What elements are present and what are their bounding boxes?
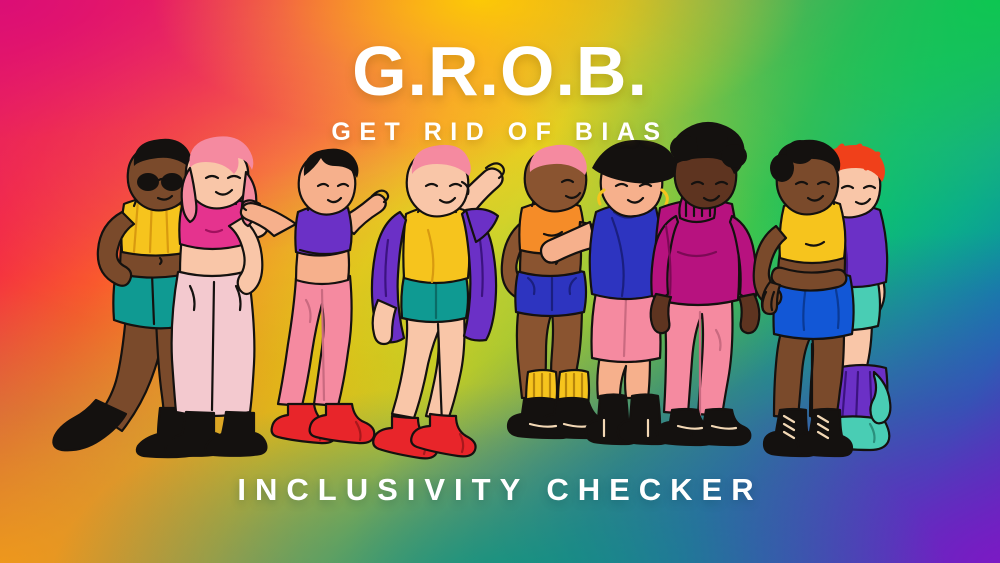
poster-canvas: G.R.O.B. GET RID OF BIAS INCLUSIVITY CHE… bbox=[0, 0, 1000, 563]
figure-8 bbox=[754, 140, 854, 456]
page-title: G.R.O.B. bbox=[0, 36, 1000, 106]
figure-4 bbox=[372, 145, 504, 459]
footer-tagline: INCLUSIVITY CHECKER bbox=[0, 472, 1000, 508]
headline-block: G.R.O.B. GET RID OF BIAS bbox=[0, 36, 1000, 145]
page-subtitle: GET RID OF BIAS bbox=[0, 120, 1000, 145]
figure-3 bbox=[241, 149, 388, 444]
